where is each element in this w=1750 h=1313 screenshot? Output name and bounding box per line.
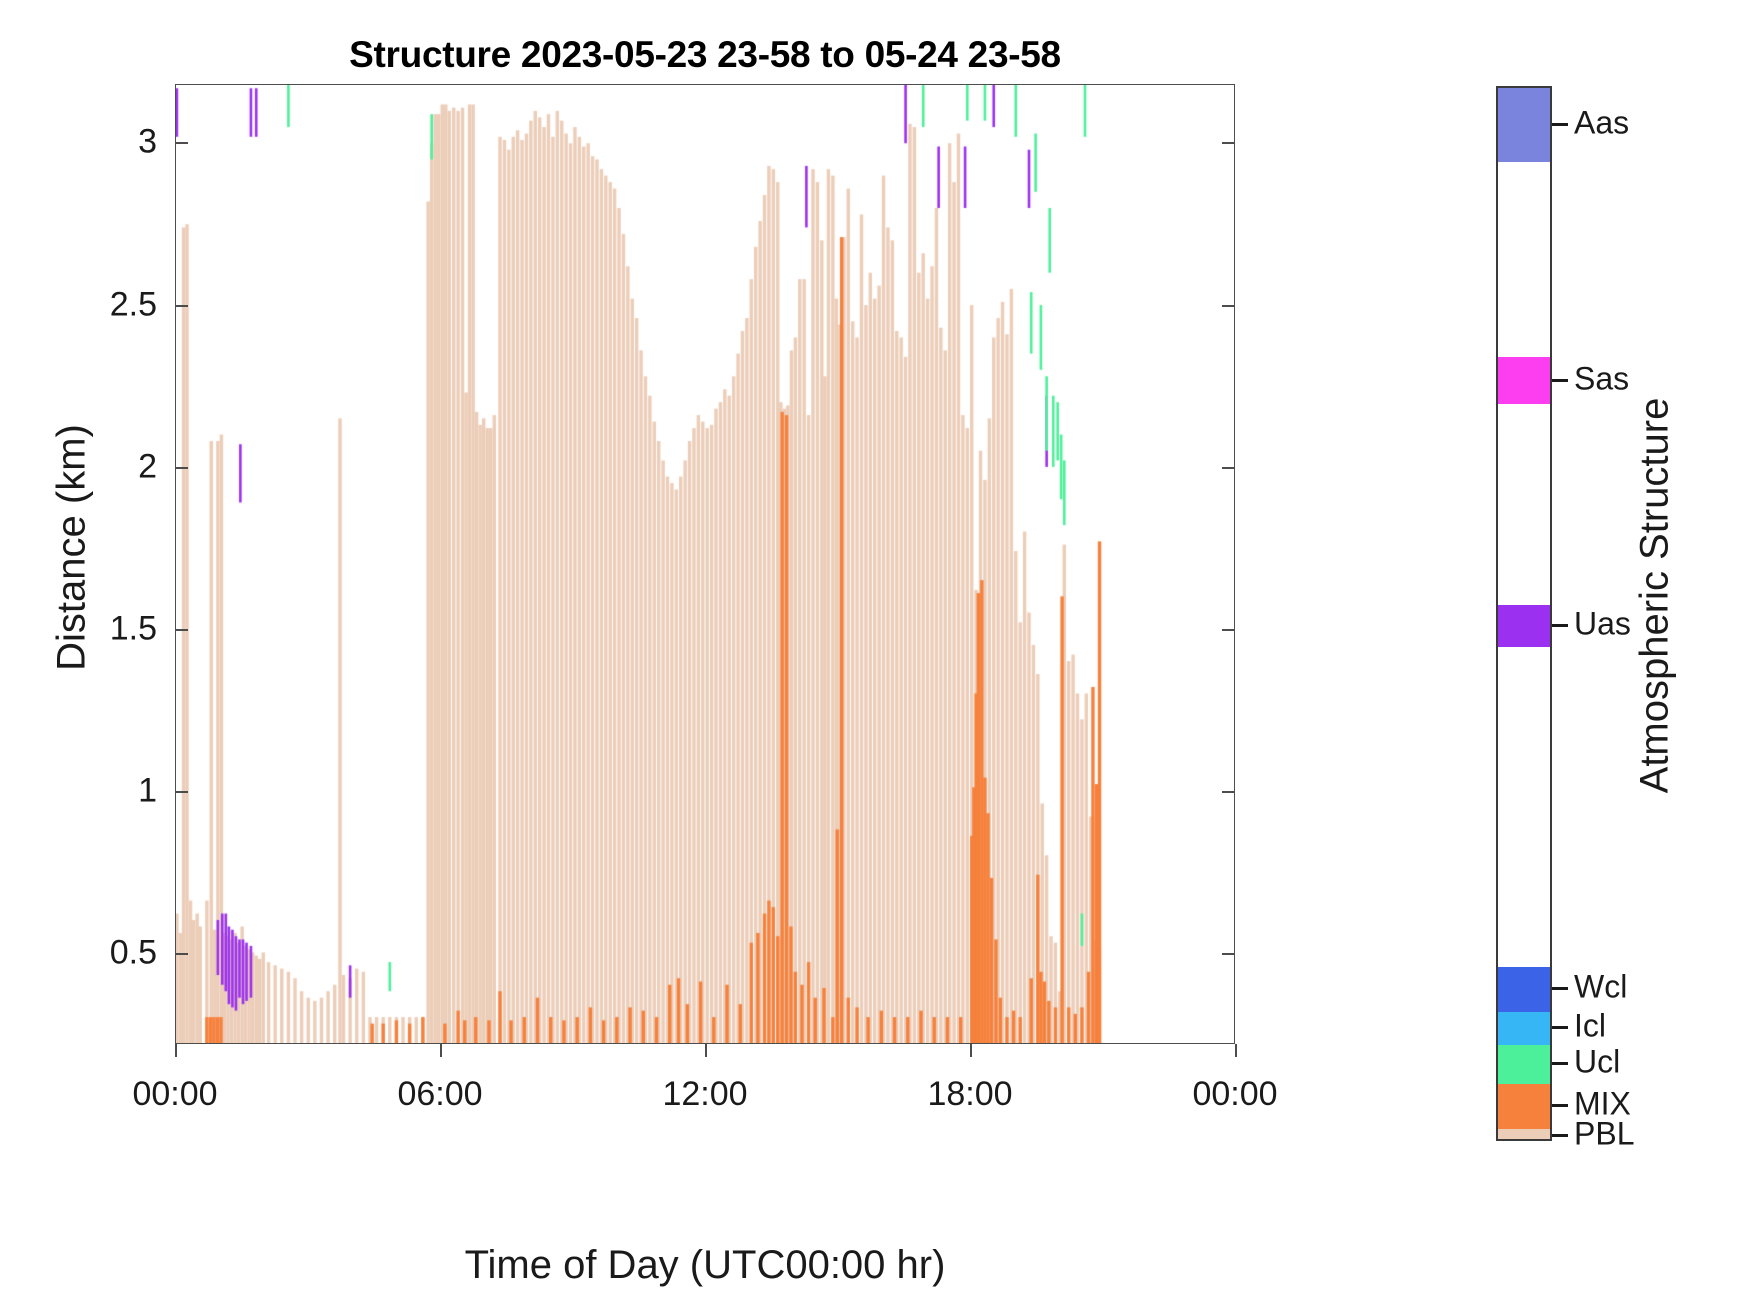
colorbar-segment-icl <box>1498 1012 1550 1045</box>
y-tick-mark <box>175 467 188 469</box>
colorbar-segment-uas <box>1498 605 1550 647</box>
colorbar-tick-mix <box>1552 1104 1568 1107</box>
colorbar-segment-wcl <box>1498 967 1550 1012</box>
colorbar-tick-icl <box>1552 1026 1568 1029</box>
x-tick-label: 00:00 <box>75 1075 275 1114</box>
y-tick-label: 0.5 <box>47 934 157 973</box>
colorbar-tick-pbl <box>1552 1134 1568 1137</box>
y-tick-mark <box>175 305 188 307</box>
colorbar-tick-wcl <box>1552 987 1568 990</box>
colorbar-label-icl: Icl <box>1574 1008 1606 1045</box>
y-tick-mark <box>175 629 188 631</box>
chart-figure: Structure 2023-05-23 23-58 to 05-24 23-5… <box>0 0 1750 1313</box>
y-tick-mark-right <box>1222 953 1235 955</box>
colorbar <box>1496 86 1552 1141</box>
y-tick-mark-right <box>1222 791 1235 793</box>
y-tick-mark <box>175 953 188 955</box>
colorbar-label-wcl: Wcl <box>1574 968 1627 1005</box>
colorbar-tick-uas <box>1552 624 1568 627</box>
y-tick-mark <box>175 142 188 144</box>
y-tick-mark-right <box>1222 305 1235 307</box>
colorbar-label-uas: Uas <box>1574 606 1631 643</box>
colorbar-label-aas: Aas <box>1574 104 1629 141</box>
colorbar-segment-pbl <box>1498 1129 1550 1141</box>
x-tick-mark <box>440 1044 442 1057</box>
colorbar-segment-aas <box>1498 88 1550 162</box>
colorbar-title: Atmospheric Structure <box>1633 286 1678 906</box>
y-tick-label: 3 <box>47 123 157 162</box>
x-tick-mark <box>705 1044 707 1057</box>
colorbar-label-ucl: Ucl <box>1574 1043 1620 1080</box>
x-tick-mark <box>175 1044 177 1057</box>
x-tick-mark <box>1235 1044 1237 1057</box>
y-tick-mark <box>175 791 188 793</box>
colorbar-tick-aas <box>1552 123 1568 126</box>
colorbar-label-pbl: PBL <box>1574 1116 1634 1153</box>
y-tick-mark-right <box>1222 629 1235 631</box>
x-axis-label: Time of Day (UTC00:00 hr) <box>175 1243 1235 1288</box>
colorbar-segment-mix <box>1498 1084 1550 1129</box>
y-tick-mark-right <box>1222 467 1235 469</box>
colorbar-segment-sas <box>1498 357 1550 404</box>
chart-title: Structure 2023-05-23 23-58 to 05-24 23-5… <box>175 34 1235 76</box>
colorbar-label-sas: Sas <box>1574 360 1629 397</box>
colorbar-tick-sas <box>1552 379 1568 382</box>
colorbar-segment-ucl <box>1498 1045 1550 1084</box>
y-tick-mark-right <box>1222 142 1235 144</box>
x-tick-mark <box>970 1044 972 1057</box>
x-tick-label: 00:00 <box>1135 1075 1335 1114</box>
x-tick-label: 18:00 <box>870 1075 1070 1114</box>
y-axis-label: Distance (km) <box>50 238 95 858</box>
colorbar-tick-ucl <box>1552 1062 1568 1065</box>
x-tick-label: 12:00 <box>605 1075 805 1114</box>
atmospheric-structure-plot <box>176 85 1234 1043</box>
x-tick-label: 06:00 <box>340 1075 540 1114</box>
